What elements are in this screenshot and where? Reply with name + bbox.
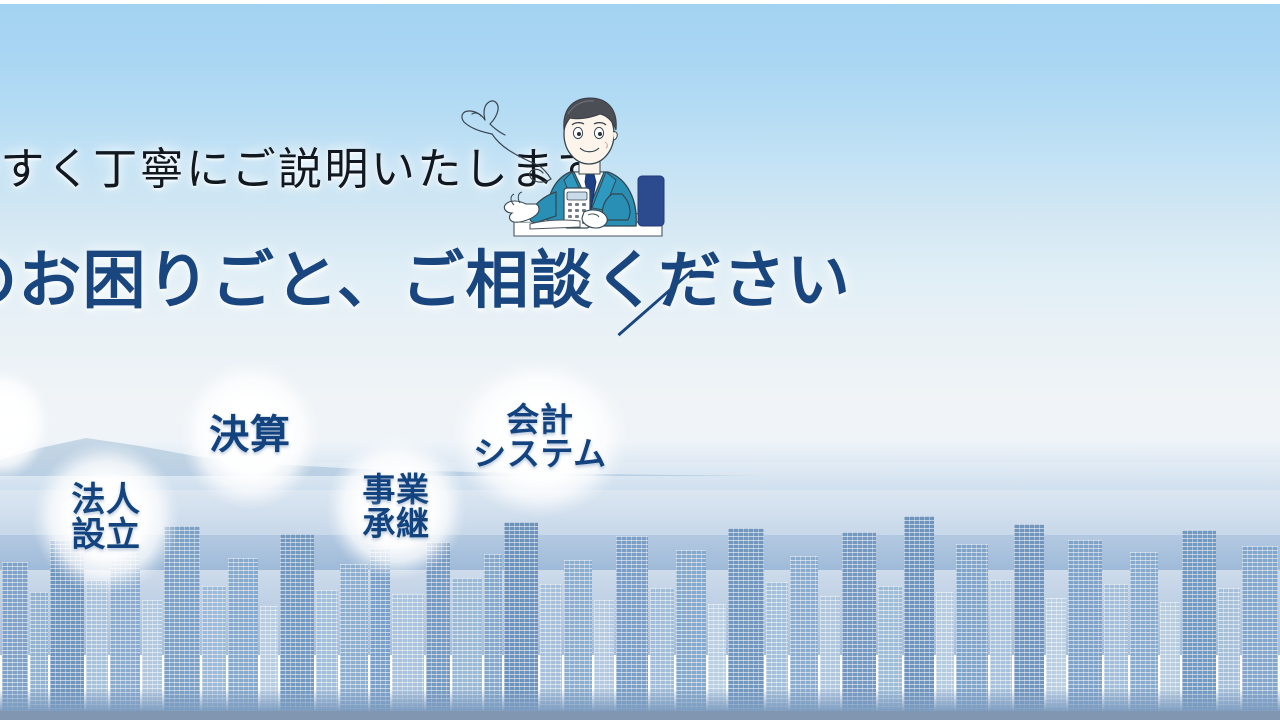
hero-banner: 決算 会計 システム 法人 設立 事業 承継 やすく丁寧にご説明いたします のお… xyxy=(0,0,1280,720)
businessman-illustration xyxy=(452,84,672,242)
bubble-houjin-setsuritsu[interactable]: 法人 設立 xyxy=(32,442,180,594)
bubble-houjin-setsuritsu-label: 法人 設立 xyxy=(71,483,140,554)
hero-headline: のお困りごと、ご相談ください xyxy=(0,250,851,313)
bubble-kessan-label: 決算 xyxy=(209,414,291,456)
top-white-strip xyxy=(0,0,1280,4)
hero-slash: ／ xyxy=(613,246,700,351)
bubble-kaikei-system[interactable]: 会計 システム xyxy=(452,358,628,518)
bubble-jigyou-shoukei-label: 事業 承継 xyxy=(362,474,429,543)
bubble-kessan[interactable]: 決算 xyxy=(180,360,320,510)
city-ground xyxy=(0,688,1280,712)
cityscape xyxy=(0,440,1280,720)
bubble-jigyou-shoukei[interactable]: 事業 承継 xyxy=(326,436,466,580)
bubble-kaikei-system-label: 会計 システム xyxy=(473,404,607,473)
bottom-band xyxy=(0,711,1280,720)
